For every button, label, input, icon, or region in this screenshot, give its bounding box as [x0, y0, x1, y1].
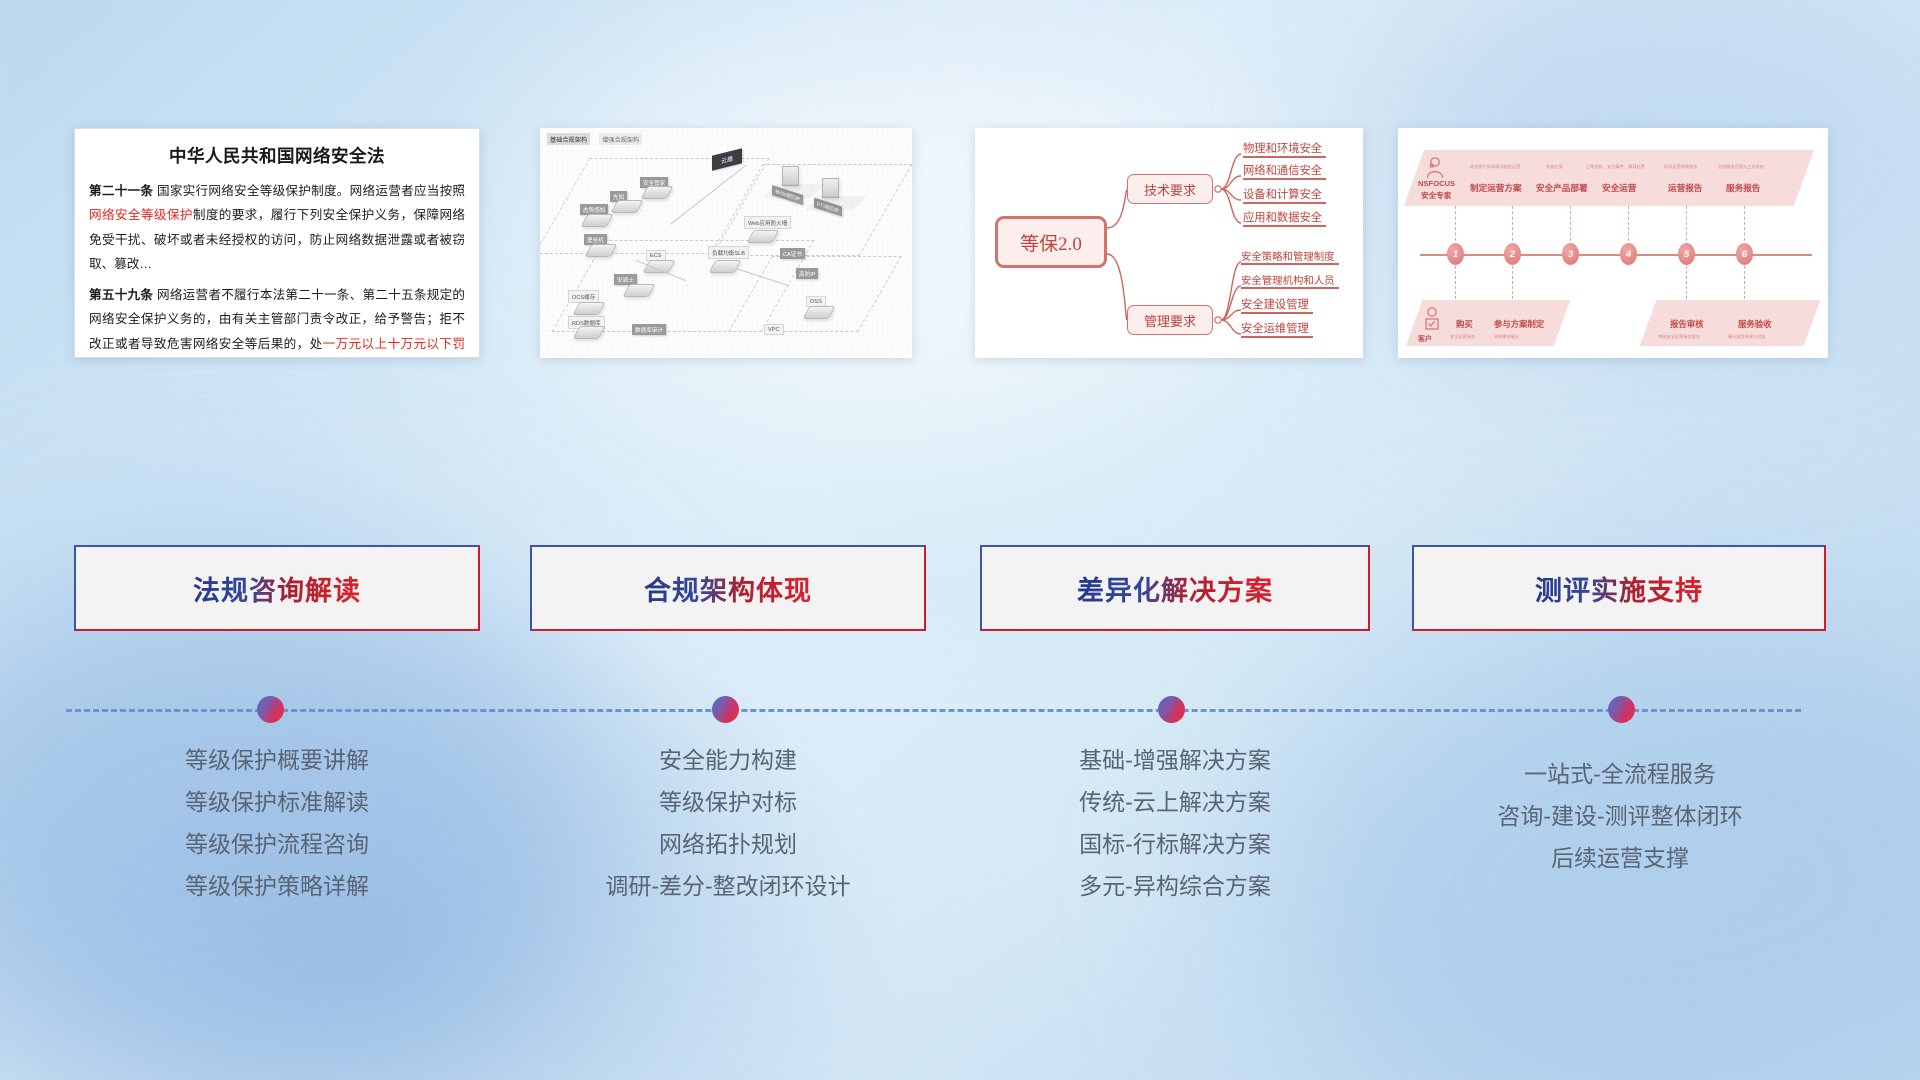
service-tick-6: [1744, 206, 1745, 246]
service-step-1-sub: 结合客户实际情况制定运营: [1470, 164, 1520, 170]
customer-person-icon: [1422, 306, 1442, 332]
service-expert-band: [1404, 150, 1814, 206]
list-item: 传统-云上解决方案: [970, 782, 1380, 824]
law-title: 中华人民共和国网络安全法: [75, 143, 479, 168]
service-timeline-axis: [1420, 254, 1812, 256]
card-law-document: 中华人民共和国网络安全法 第二十一条 国家实行网络安全等级保护制度。网络运营者应…: [74, 128, 480, 358]
service-step-2-title: 安全产品部署: [1536, 182, 1588, 194]
service-tick-b4: [1744, 266, 1745, 304]
service-node-4: 4: [1620, 243, 1637, 265]
architecture-tab-enhanced[interactable]: 增强合规架构: [599, 133, 642, 145]
mindmap-leaf-ops-mgmt: 安全运维管理: [1241, 320, 1309, 338]
service-tick-3: [1570, 206, 1571, 246]
customer-step-1-title: 购买: [1456, 318, 1473, 330]
service-tick-b2: [1512, 266, 1513, 304]
service-step-4-title: 运营报告: [1668, 182, 1702, 194]
architecture-node-ca: CA证书: [780, 248, 805, 259]
list-item: 网络拓扑规划: [520, 824, 936, 866]
architecture-node-vpc: VPC: [764, 324, 784, 335]
law-article-21-highlight: 网络安全等级保护: [89, 208, 193, 222]
service-step-1-title: 制定运营方案: [1470, 182, 1522, 194]
architecture-shape-box-1: [782, 166, 799, 186]
architecture-node-waf: Web应用防火墙: [744, 216, 791, 229]
mindmap-leaf-construction-mgmt: 安全建设管理: [1241, 296, 1309, 314]
timeline-dot-2: [712, 696, 739, 723]
heading-box-assessment-support[interactable]: 测评实施支持: [1412, 545, 1826, 631]
heading-label-1: 法规咨询解读: [193, 569, 361, 608]
service-tick-b3: [1686, 266, 1687, 304]
mindmap-leaf-application-security: 应用和数据安全: [1243, 209, 1322, 227]
expert-brand-label: NSFOCUS: [1418, 179, 1455, 188]
list-item: 多元-异构综合方案: [970, 866, 1380, 908]
list-item: 等级保护概要讲解: [74, 740, 480, 782]
law-paragraph-59: 第五十九条 网络运营者不履行本法第二十一条、第二十五条规定的网络安全保护义务的，…: [75, 283, 479, 358]
architecture-tabs: 基础合规架构 增强合规架构: [547, 133, 642, 145]
mindmap-leaf-policy-system: 安全策略和管理制度: [1241, 248, 1335, 265]
list-item: 一站式-全流程服务: [1400, 754, 1840, 796]
customer-role-label: 客户: [1418, 334, 1432, 344]
heading-box-differentiated-solution[interactable]: 差异化解决方案: [980, 545, 1370, 631]
service-step-4-sub: 阶段运营效果报告: [1664, 164, 1698, 170]
service-step-5-sub: 总结服务范围与工作总结: [1718, 164, 1764, 170]
service-step-3-title: 安全运营: [1602, 182, 1636, 194]
customer-step-2-sub: 采购需求确认: [1494, 334, 1519, 340]
card-service-timeline: NSFOCUS 安全专家 结合客户实际情况制定运营 制定运营方案 实施方案 安全…: [1398, 128, 1828, 358]
list-item: 等级保护策略详解: [74, 866, 480, 908]
mindmap-branch-management: 管理要求: [1127, 305, 1213, 335]
cards-row: 中华人民共和国网络安全法 第二十一条 国家实行网络安全等级保护制度。网络运营者应…: [0, 0, 1920, 430]
mindmap-leaf-org-personnel: 安全管理机构和人员: [1241, 272, 1335, 289]
law-article-21-label: 第二十一条: [89, 184, 153, 198]
customer-step-3-sub: 审核安全运营服务报告: [1658, 334, 1700, 340]
timeline-dot-4: [1608, 696, 1635, 723]
process-timeline: [0, 690, 1920, 730]
customer-step-1-sub: 安全运营服务: [1450, 334, 1475, 340]
law-article-59-label: 第五十九条: [89, 288, 153, 302]
architecture-canvas: 基础合规架构 增强合规架构 云盾 安全管家 先知 态势感知 堡垒机 ECS 安骑…: [540, 128, 912, 358]
customer-step-4-title: 服务验收: [1738, 318, 1772, 330]
law-article-21-text-a: 国家实行网络安全等级保护制度。网络运营者应当按照: [153, 184, 465, 198]
service-timeline-canvas: NSFOCUS 安全专家 结合客户实际情况制定运营 制定运营方案 实施方案 安全…: [1398, 128, 1828, 358]
detail-list-2: 安全能力构建 等级保护对标 网络拓扑规划 调研-差分-整改闭环设计: [520, 740, 936, 907]
service-tick-1: [1455, 206, 1456, 246]
mindmap-leaf-physical-security: 物理和环境安全: [1243, 140, 1322, 158]
service-node-6: 6: [1736, 243, 1753, 265]
customer-step-3-title: 报告审核: [1670, 318, 1704, 330]
service-node-1: 1: [1447, 243, 1464, 265]
service-step-2-sub: 实施方案: [1546, 164, 1563, 170]
mindmap-branch-technical: 技术要求: [1127, 174, 1213, 204]
list-item: 咨询-建设-测评整体闭环: [1400, 796, 1840, 838]
service-node-2: 2: [1504, 243, 1521, 265]
architecture-node-db-audit: 数据库审计: [632, 324, 666, 335]
list-item: 等级保护标准解读: [74, 782, 480, 824]
detail-list-3: 基础-增强解决方案 传统-云上解决方案 国标-行标解决方案 多元-异构综合方案: [970, 740, 1380, 907]
service-tick-b1: [1455, 266, 1456, 304]
law-paragraph-21: 第二十一条 国家实行网络安全等级保护制度。网络运营者应当按照网络安全等级保护制度…: [75, 179, 479, 276]
timeline-dot-1: [257, 696, 284, 723]
service-step-5-title: 服务报告: [1726, 182, 1760, 194]
mindmap-leaf-device-security: 设备和计算安全: [1243, 186, 1322, 204]
expert-person-icon: [1424, 156, 1446, 180]
card-architecture-diagram: 基础合规架构 增强合规架构 云盾 安全管家 先知 态势感知 堡垒机 ECS 安骑…: [540, 128, 912, 358]
service-step-3-sub: 日常巡检、安全事件、漏洞处置: [1586, 164, 1645, 170]
architecture-node-antiddos: 高防IP: [796, 268, 818, 279]
timeline-dashed-line: [66, 709, 1801, 712]
expert-role-label: 安全专家: [1421, 190, 1451, 201]
architecture-tab-basic[interactable]: 基础合规架构: [547, 133, 590, 145]
heading-label-4: 测评实施支持: [1535, 569, 1703, 608]
heading-box-compliance-architecture[interactable]: 合规架构体现: [530, 545, 926, 631]
service-node-5: 5: [1678, 243, 1695, 265]
heading-box-regulation-consulting[interactable]: 法规咨询解读: [74, 545, 480, 631]
heading-label-3: 差异化解决方案: [1077, 569, 1273, 608]
service-node-3: 3: [1562, 243, 1579, 265]
list-item: 等级保护对标: [520, 782, 936, 824]
customer-step-4-sub: 确认服务效果与验收: [1728, 334, 1766, 340]
list-item: 基础-增强解决方案: [970, 740, 1380, 782]
service-tick-5: [1686, 206, 1687, 246]
list-item: 等级保护流程咨询: [74, 824, 480, 866]
list-item: 后续运营支撑: [1400, 838, 1840, 880]
mindmap-leaf-network-security: 网络和通信安全: [1243, 162, 1322, 180]
architecture-node-slb: 负载均衡SLB: [708, 246, 749, 259]
service-tick-4: [1628, 206, 1629, 246]
mindmap-canvas: 等保2.0 技术要求 物理和环境安全 网络和通信安全 设备和计算安全 应用和数据…: [975, 128, 1363, 358]
customer-step-2-title: 参与方案制定: [1494, 318, 1544, 330]
list-item: 安全能力构建: [520, 740, 936, 782]
architecture-shape-box-2: [822, 178, 839, 198]
list-item: 调研-差分-整改闭环设计: [520, 866, 936, 908]
heading-label-2: 合规架构体现: [644, 569, 812, 608]
list-item: 国标-行标解决方案: [970, 824, 1380, 866]
timeline-dot-3: [1158, 696, 1185, 723]
detail-list-1: 等级保护概要讲解 等级保护标准解读 等级保护流程咨询 等级保护策略详解: [74, 740, 480, 907]
card-mindmap: 等保2.0 技术要求 物理和环境安全 网络和通信安全 设备和计算安全 应用和数据…: [975, 128, 1363, 358]
mindmap-root-node: 等保2.0: [995, 216, 1107, 268]
detail-list-4: 一站式-全流程服务 咨询-建设-测评整体闭环 后续运营支撑: [1400, 740, 1840, 880]
service-tick-2: [1512, 206, 1513, 246]
headings-row: 法规咨询解读 合规架构体现 差异化解决方案 测评实施支持: [0, 545, 1920, 645]
